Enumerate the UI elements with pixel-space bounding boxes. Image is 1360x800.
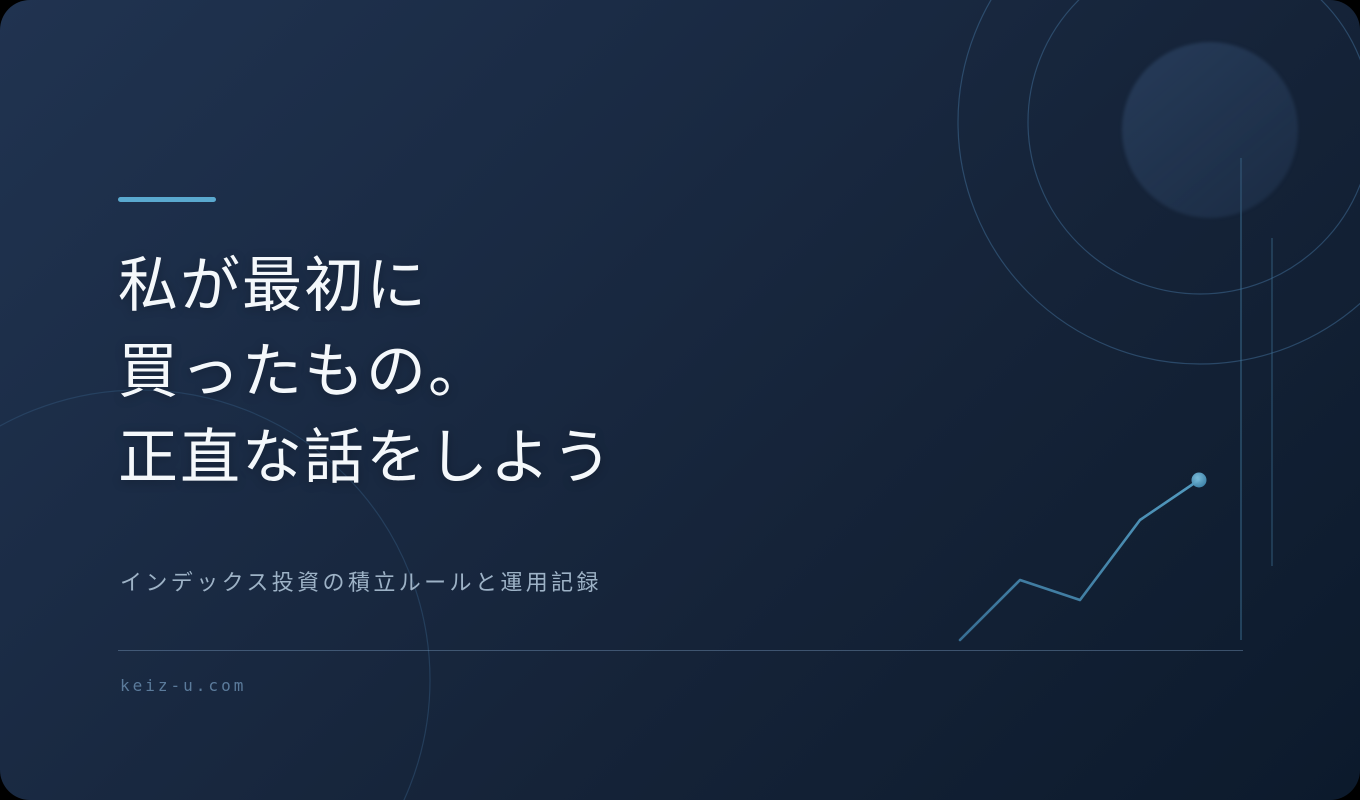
page-title: 私が最初に 買ったもの。 正直な話をしよう — [118, 243, 614, 501]
footer-site-url: keiz-u.com — [120, 676, 246, 695]
slide-canvas: 私が最初に 買ったもの。 正直な話をしよう インデックス投資の積立ルールと運用記… — [0, 0, 1360, 800]
slide-content: 私が最初に 買ったもの。 正直な話をしよう インデックス投資の積立ルールと運用記… — [118, 0, 1248, 800]
subtitle-text: インデックス投資の積立ルールと運用記録 — [120, 569, 602, 599]
accent-bar — [118, 197, 216, 202]
footer-divider — [118, 650, 1243, 651]
